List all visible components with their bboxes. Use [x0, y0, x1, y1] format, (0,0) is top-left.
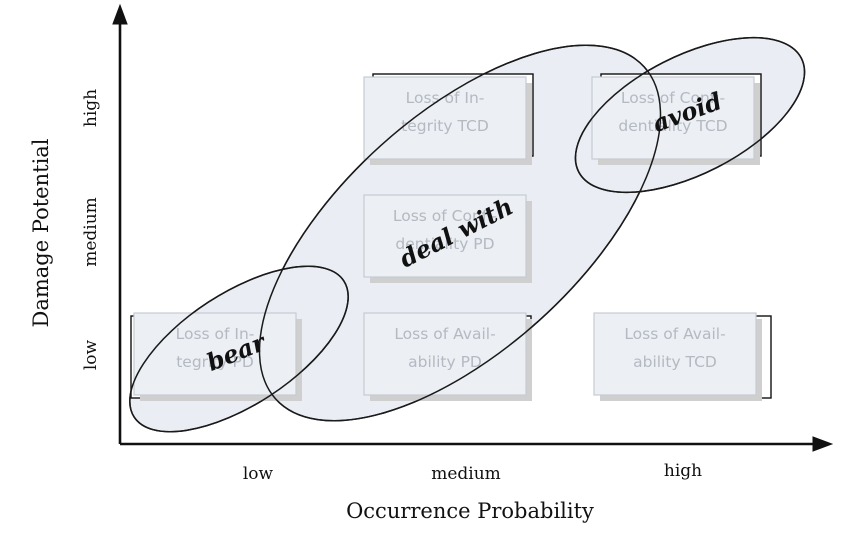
y-axis-tick-labels: low medium high [81, 89, 101, 370]
cell-label-line1: Loss of Avail- [394, 325, 495, 343]
cell-integrity-tcd[interactable]: Loss of In- tegrity TCD [364, 77, 526, 159]
cell-availability-tcd[interactable]: Loss of Avail- ability TCD [594, 313, 756, 395]
x-tick-low: low [243, 464, 274, 484]
y-tick-low: low [81, 339, 101, 370]
cell-label-line1: Loss of Avail- [624, 325, 725, 343]
cell-label-line2: ability PD [408, 353, 482, 371]
cell-availability-pd[interactable]: Loss of Avail- ability PD [364, 313, 526, 395]
cell-label-line2: ability TCD [633, 353, 717, 371]
x-axis-tick-labels: low medium high [243, 461, 702, 484]
y-tick-high: high [81, 89, 101, 127]
cell-label-line2: tegrity TCD [401, 117, 489, 135]
x-axis-title: Occurrence Probability [346, 499, 594, 523]
y-axis-title: Damage Potential [29, 138, 53, 327]
diagram-canvas: Loss of In- tegrity TCD Loss of Confi- d… [0, 0, 855, 537]
x-tick-medium: medium [431, 464, 501, 484]
y-tick-medium: medium [81, 197, 101, 267]
x-tick-high: high [664, 461, 702, 481]
risk-matrix-diagram: Loss of In- tegrity TCD Loss of Confi- d… [0, 0, 855, 537]
cell-label-line1: Loss of In- [406, 89, 485, 107]
